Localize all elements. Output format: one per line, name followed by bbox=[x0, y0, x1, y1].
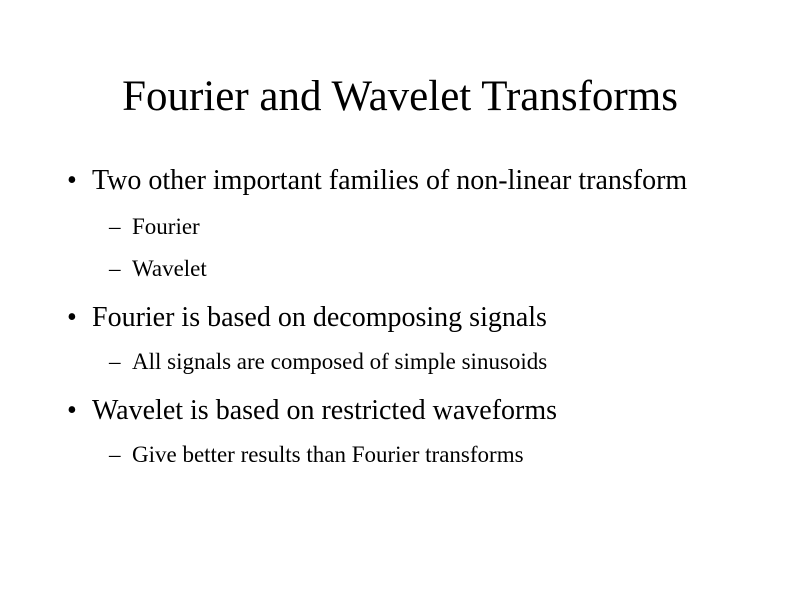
bullet-item-level1: • Fourier is based on decomposing signal… bbox=[60, 301, 760, 334]
spacer bbox=[60, 336, 760, 348]
bullet-text: Wavelet is based on restricted waveforms bbox=[92, 394, 692, 427]
bullet-text: Give better results than Fourier transfo… bbox=[132, 441, 760, 469]
bullet-text: Wavelet bbox=[132, 255, 760, 283]
bullet-text: Fourier bbox=[132, 213, 760, 241]
bullet-dot-icon: • bbox=[67, 164, 77, 197]
bullet-dot-icon: • bbox=[67, 301, 77, 334]
bullet-item-level1: • Two other important families of non-li… bbox=[60, 164, 760, 197]
spacer bbox=[60, 283, 760, 301]
bullet-dash-icon: – bbox=[109, 348, 121, 376]
spacer bbox=[60, 376, 760, 394]
bullet-item-level2: – Fourier bbox=[60, 213, 760, 241]
bullet-dash-icon: – bbox=[109, 441, 121, 469]
spacer bbox=[60, 199, 760, 213]
bullet-text: Fourier is based on decomposing signals bbox=[92, 301, 692, 334]
bullet-text: Two other important families of non-line… bbox=[92, 164, 692, 197]
bullet-dash-icon: – bbox=[109, 255, 121, 283]
bullet-item-level2: – Give better results than Fourier trans… bbox=[60, 441, 760, 469]
slide-title: Fourier and Wavelet Transforms bbox=[0, 72, 800, 122]
spacer bbox=[60, 429, 760, 441]
presentation-slide: Fourier and Wavelet Transforms • Two oth… bbox=[0, 0, 800, 600]
spacer bbox=[60, 241, 760, 255]
bullet-item-level2: – All signals are composed of simple sin… bbox=[60, 348, 760, 376]
bullet-item-level1: • Wavelet is based on restricted wavefor… bbox=[60, 394, 760, 427]
bullet-text: All signals are composed of simple sinus… bbox=[132, 348, 760, 376]
bullet-dash-icon: – bbox=[109, 213, 121, 241]
bullet-dot-icon: • bbox=[67, 394, 77, 427]
bullet-item-level2: – Wavelet bbox=[60, 255, 760, 283]
slide-body-outline: • Two other important families of non-li… bbox=[60, 164, 760, 469]
